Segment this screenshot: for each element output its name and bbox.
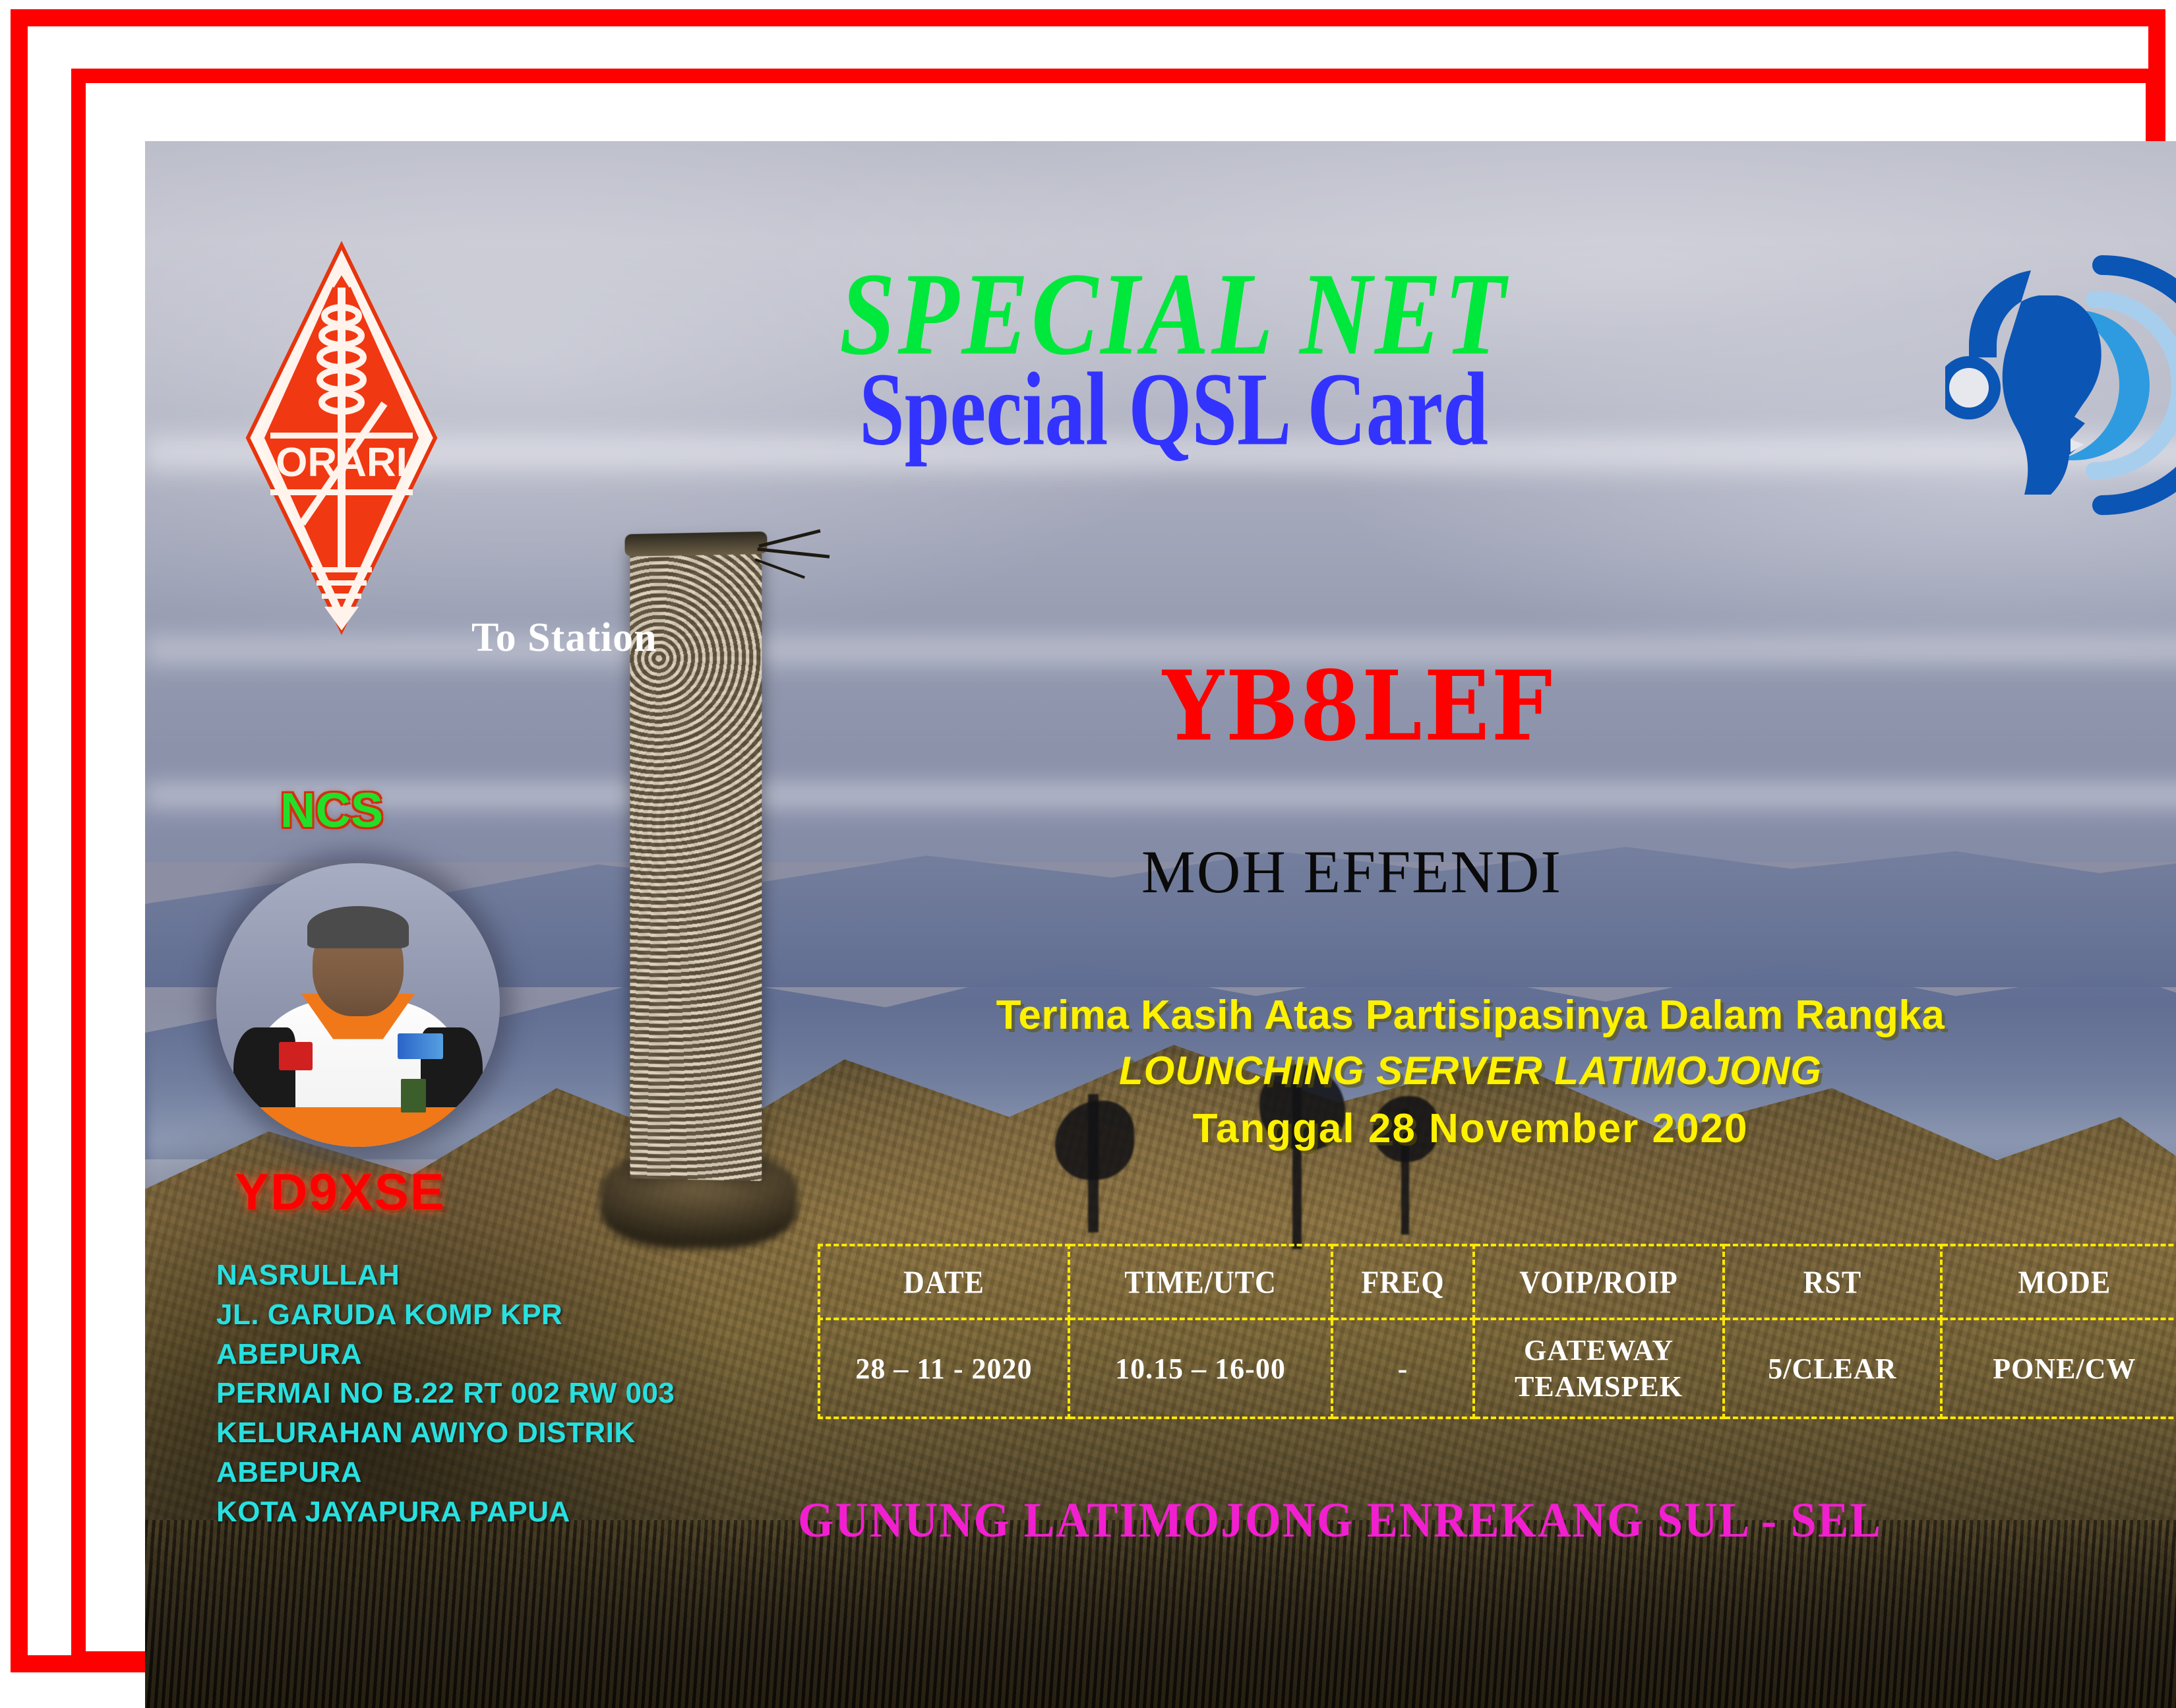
cell-freq: - [1332,1319,1474,1418]
photo-uniform-band [245,1107,471,1147]
location-text: GUNUNG LATIMOJONG ENREKANG SUL - SEL [798,1492,1882,1549]
column-header-freq: FREQ [1332,1241,1474,1322]
address-line: ABEPURA [216,1453,675,1492]
cell-rst: 5/CLEAR [1724,1319,1941,1418]
cell-voip: GATEWAY TEAMSPEK [1474,1319,1724,1418]
cell-date: 28 – 11 - 2020 [819,1319,1069,1418]
operator-name: MOH EFFENDI [956,837,1747,907]
table-row: 28 – 11 - 2020 10.15 – 16-00 - GATEWAY T… [819,1319,2176,1418]
column-header-mode: MODE [1941,1241,2176,1322]
column-header-date: DATE [819,1241,1069,1322]
ncs-address-block: NASRULLAH JL. GARUDA KOMP KPR ABEPURA PE… [216,1256,675,1532]
address-line: KOTA JAYAPURA PAPUA [216,1492,675,1532]
cell-time: 10.15 – 16-00 [1069,1319,1332,1418]
photo-hair [307,906,409,949]
qso-log-table: DATE TIME/UTC FREQ VOIP/ROIP RST MODE 28… [818,1244,2176,1419]
photo-club-patch [398,1033,443,1059]
photo-badge-patch [279,1042,313,1070]
thanks-message-block: Terima Kasih Atas Partisipasinya Dalam R… [857,992,2084,1152]
title-special-qsl-card: Special QSL Card [196,350,2151,470]
cell-mode: PONE/CW [1941,1319,2176,1418]
thanks-line-2-event: LOUNCHING SERVER LATIMOJONG [857,1048,2084,1093]
column-header-time: TIME/UTC [1069,1241,1332,1322]
cloud-band [145,776,2176,815]
qsl-card: ORARI [0,0,2176,1682]
card-background-photo: ORARI [145,141,2176,1708]
address-line: PERMAI NO B.22 RT 002 RW 003 [216,1374,675,1413]
address-line: KELURAHAN AWIYO DISTRIK [216,1413,675,1453]
ncs-callsign: YD9XSE [235,1162,446,1222]
ncs-label: NCS [280,782,383,838]
inner-red-border: ORARI [71,69,2160,1666]
table-header-row: DATE TIME/UTC FREQ VOIP/ROIP RST MODE [819,1245,2176,1319]
address-line: NASRULLAH [216,1256,675,1295]
ncs-operator-photo [216,863,500,1147]
column-header-voip: VOIP/ROIP [1474,1241,1724,1322]
thanks-line-3-date: Tanggal 28 November 2020 [857,1105,2084,1152]
recipient-callsign: YB8LEF [1062,650,1655,762]
to-station-label: To Station [471,615,657,661]
outer-red-border: ORARI [11,9,2165,1672]
photo-id-card [401,1079,427,1113]
column-header-rst: RST [1724,1241,1941,1322]
address-line: ABEPURA [216,1335,675,1374]
thanks-line-1: Terima Kasih Atas Partisipasinya Dalam R… [857,992,2084,1039]
address-line: JL. GARUDA KOMP KPR [216,1295,675,1335]
